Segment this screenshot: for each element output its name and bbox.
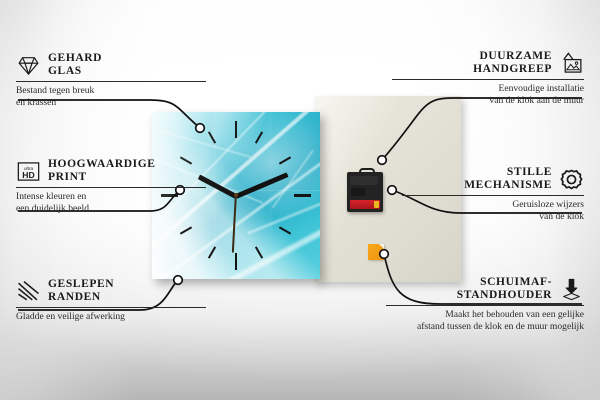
diamond-icon <box>16 53 41 78</box>
callout-header: SCHUIMAF- STANDHOUDER <box>386 276 584 302</box>
callout-desc-line2: afstand tussen de klok en de muur mogeli… <box>386 321 584 333</box>
diagonal-lines-icon <box>16 279 41 304</box>
callout-desc-line1: Geruisloze wijzers <box>402 199 584 211</box>
callout-header: STILLE MECHANISME <box>402 166 584 192</box>
callout-geslepen-randen: GESLEPEN RANDEN Gladde en veilige afwerk… <box>16 278 206 323</box>
callout-rule <box>392 79 584 80</box>
gear-icon <box>559 167 584 192</box>
callout-desc-line2: van de klok <box>402 211 584 223</box>
callout-title-line1: DUURZAME <box>473 50 552 63</box>
callout-rule <box>16 307 206 308</box>
callout-rule <box>386 305 584 306</box>
callout-header: GEHARD GLAS <box>16 52 206 78</box>
callout-header: DUURZAME HANDGREEP <box>392 50 584 76</box>
callout-header: ultra HD HOOGWAARDIGE PRINT <box>16 158 206 184</box>
callout-rule <box>402 195 584 196</box>
connector-dot-gehard-glas <box>196 124 205 133</box>
connector-dot-schuimafstandhouder <box>380 250 389 259</box>
callout-hoogwaardige-print: ultra HD HOOGWAARDIGE PRINT Intense kleu… <box>16 158 206 215</box>
callout-header: GESLEPEN RANDEN <box>16 278 206 304</box>
callout-desc-line2: een duidelijk beeld <box>16 203 206 215</box>
callout-desc-line1: Bestand tegen breuk <box>16 85 206 97</box>
callout-desc-line1: Gladde en veilige afwerking <box>16 311 206 323</box>
callout-title-line1: SCHUIMAF- <box>457 276 552 289</box>
callout-desc-line1: Intense kleuren en <box>16 191 206 203</box>
callout-title-line2: RANDEN <box>48 291 114 304</box>
callout-title-line2: HANDGREEP <box>473 63 552 76</box>
picture-frame-hanging-icon <box>559 51 584 76</box>
callout-title-line1: STILLE <box>464 166 552 179</box>
callout-title-line2: GLAS <box>48 65 102 78</box>
connector-duurzame-handgreep <box>382 98 582 160</box>
callout-duurzame-handgreep: DUURZAME HANDGREEP Eenvoudige installati… <box>392 50 584 107</box>
callout-rule <box>16 187 206 188</box>
callout-title-line1: HOOGWAARDIGE <box>48 158 156 171</box>
callout-title-line2: PRINT <box>48 171 156 184</box>
callout-title-line1: GESLEPEN <box>48 278 114 291</box>
ultra-hd-icon-bottom: HD <box>22 170 34 180</box>
callout-desc-line1: Eenvoudige installatie <box>392 83 584 95</box>
connector-dot-stille-mechanisme <box>388 186 397 195</box>
connector-dot-duurzame-handgreep <box>378 156 387 165</box>
infographic-canvas: GEHARD GLAS Bestand tegen breuk en krass… <box>0 0 600 400</box>
callout-gehard-glas: GEHARD GLAS Bestand tegen breuk en krass… <box>16 52 206 109</box>
callout-rule <box>16 81 206 82</box>
callout-schuimafstandhouder: SCHUIMAF- STANDHOUDER Maakt het behouden… <box>386 276 584 333</box>
callout-title-line2: STANDHOUDER <box>457 289 552 302</box>
callout-desc-line2: en krassen <box>16 97 206 109</box>
callout-desc-line2: van de klok aan de muur <box>392 95 584 107</box>
down-arrow-stack-icon <box>559 277 584 302</box>
callout-title-line2: MECHANISME <box>464 179 552 192</box>
callout-title-line1: GEHARD <box>48 52 102 65</box>
callout-desc-line1: Maakt het behouden van een gelijke <box>386 309 584 321</box>
callout-stille-mechanisme: STILLE MECHANISME Geruisloze wijzers van… <box>402 166 584 223</box>
ultra-hd-icon: ultra HD <box>16 159 41 184</box>
